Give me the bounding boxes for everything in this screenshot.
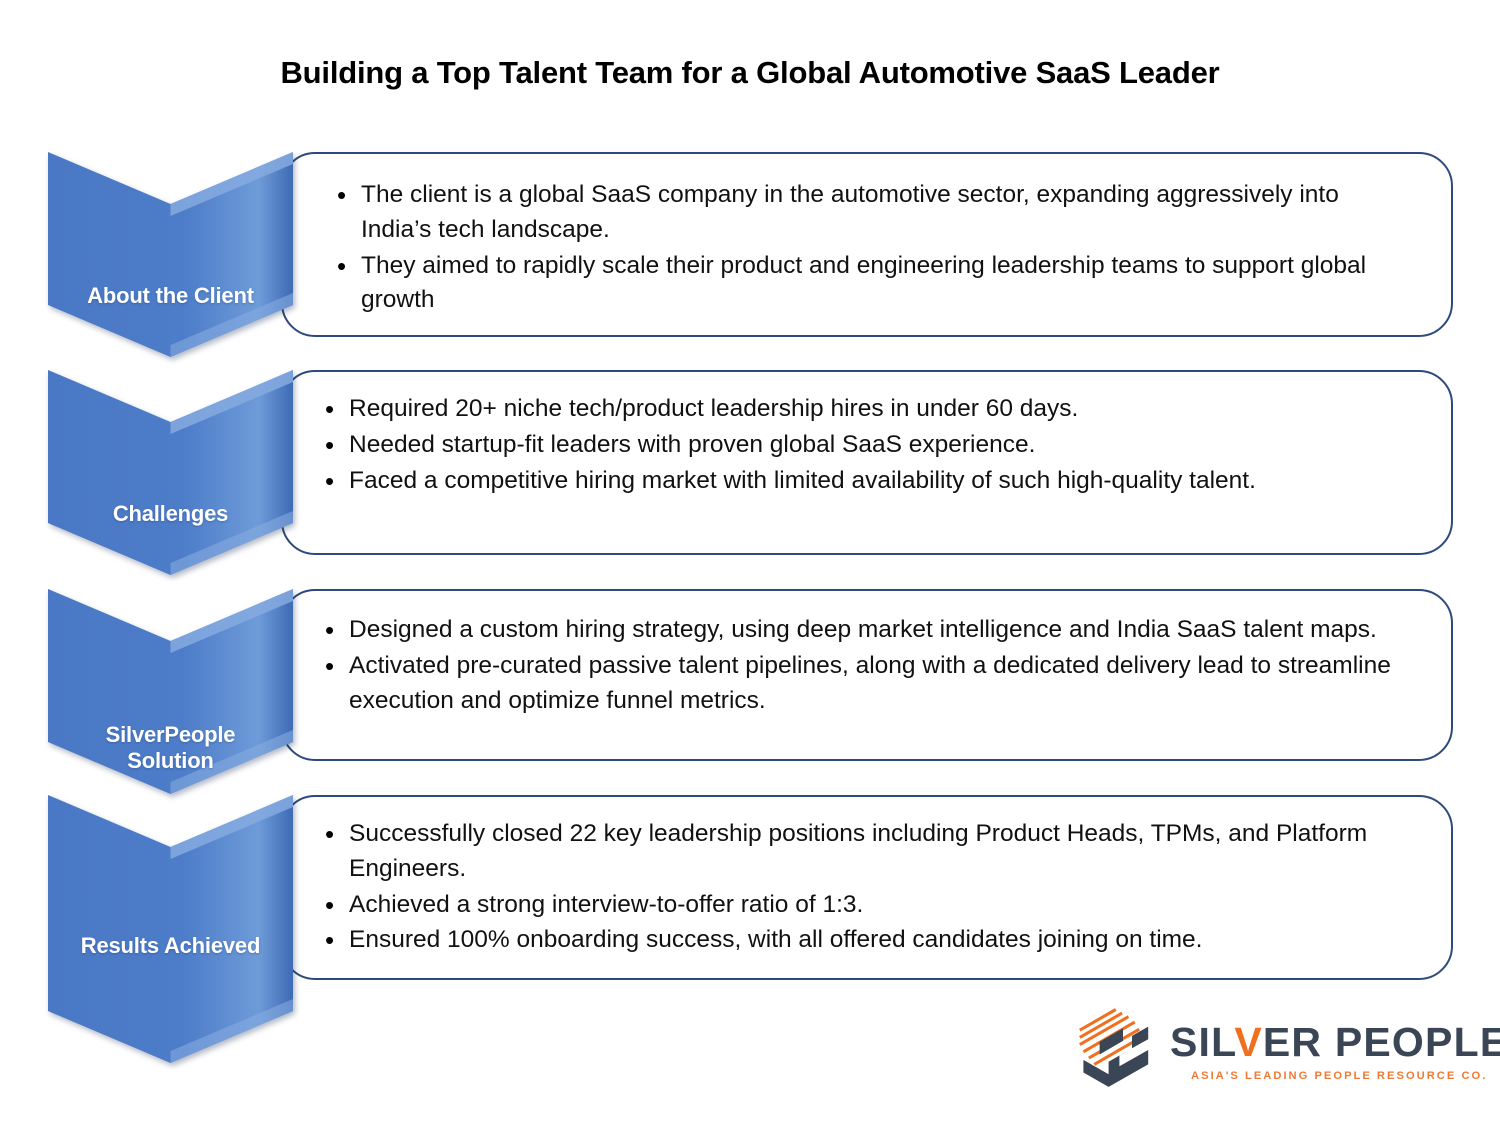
- infographic-page: Building a Top Talent Team for a Global …: [0, 0, 1500, 1125]
- content-card-challenges: Required 20+ niche tech/product leadersh…: [281, 370, 1453, 555]
- chevron-about-the-client[interactable]: [48, 152, 293, 357]
- list-item: Required 20+ niche tech/product leadersh…: [311, 392, 1411, 427]
- logo-word-part2: ER PEOPLE: [1263, 1019, 1500, 1065]
- bullet-list: Required 20+ niche tech/product leadersh…: [311, 392, 1411, 498]
- list-item: The client is a global SaaS company in t…: [323, 178, 1411, 248]
- list-item: Needed startup-fit leaders with proven g…: [311, 428, 1411, 463]
- silverpeople-s-logo-icon: [1068, 1005, 1160, 1095]
- list-item: Faced a competitive hiring market with l…: [311, 464, 1411, 499]
- list-item: Designed a custom hiring strategy, using…: [311, 613, 1411, 648]
- list-item: Activated pre-curated passive talent pip…: [311, 649, 1411, 719]
- content-card-silverpeople-solution: Designed a custom hiring strategy, using…: [281, 589, 1453, 761]
- chevron-results-achieved[interactable]: [48, 795, 293, 1063]
- bullet-list: Successfully closed 22 key leadership po…: [311, 817, 1411, 958]
- list-item: Ensured 100% onboarding success, with al…: [311, 923, 1411, 958]
- logo-tagline: ASIA'S LEADING PEOPLE RESOURCE CO.: [1170, 1070, 1500, 1082]
- logo-wordmark: SILVER PEOPLE™: [1170, 1022, 1500, 1063]
- content-card-about-the-client: The client is a global SaaS company in t…: [281, 152, 1453, 337]
- list-item: Successfully closed 22 key leadership po…: [311, 817, 1411, 887]
- chevron-challenges[interactable]: [48, 370, 293, 575]
- list-item: Achieved a strong interview-to-offer rat…: [311, 888, 1411, 923]
- content-card-results-achieved: Successfully closed 22 key leadership po…: [281, 795, 1453, 980]
- bullet-list: Designed a custom hiring strategy, using…: [311, 613, 1411, 718]
- logo-text: SILVER PEOPLE™ ASIA'S LEADING PEOPLE RES…: [1170, 1018, 1500, 1082]
- bullet-list: The client is a global SaaS company in t…: [323, 178, 1411, 318]
- logo-word-part1: SIL: [1170, 1019, 1234, 1065]
- list-item: They aimed to rapidly scale their produc…: [323, 249, 1411, 319]
- silverpeople-logo: SILVER PEOPLE™ ASIA'S LEADING PEOPLE RES…: [1068, 1004, 1458, 1096]
- page-title: Building a Top Talent Team for a Global …: [0, 55, 1500, 91]
- logo-word-v: V: [1234, 1019, 1263, 1065]
- chevron-silverpeople-solution[interactable]: [48, 589, 293, 794]
